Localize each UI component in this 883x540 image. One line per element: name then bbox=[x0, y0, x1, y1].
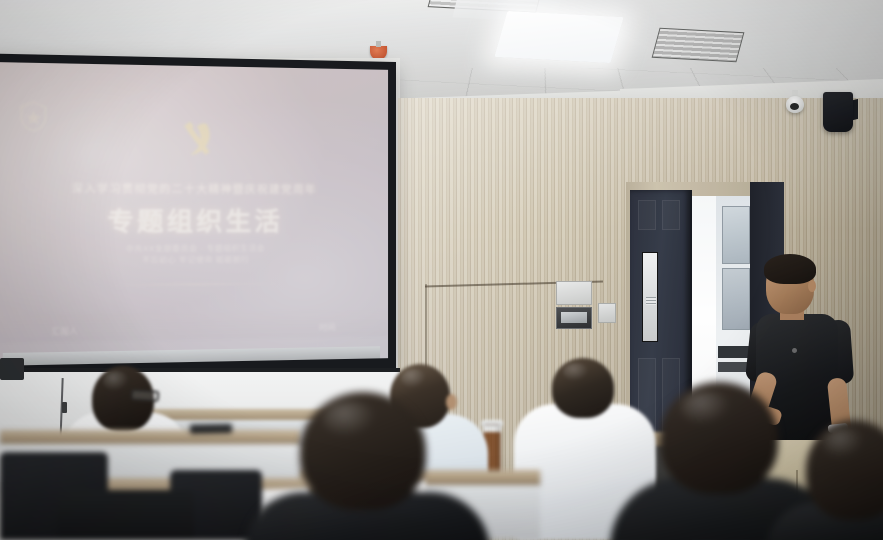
dome-security-camera-icon bbox=[786, 96, 804, 113]
door-vision-panel bbox=[642, 252, 658, 342]
ceiling-air-vent-2 bbox=[652, 28, 745, 63]
attendee-foreground-right-head bbox=[660, 382, 778, 494]
hair-highlight bbox=[563, 363, 589, 381]
attendee-center-right-head bbox=[552, 358, 614, 418]
attendee-center-ear bbox=[446, 394, 457, 410]
door-panel-top-left bbox=[638, 200, 656, 230]
presenter-hair bbox=[764, 254, 816, 284]
projection-screen-surface: 深入学习贯彻党的二十大精神暨庆祝建党周年 专题组织生活 中共XX支部委员会 · … bbox=[0, 62, 388, 366]
wall-notice-plate bbox=[556, 281, 592, 305]
hair-highlight bbox=[103, 371, 129, 391]
cable-clip-1 bbox=[62, 402, 67, 413]
attendee-foreground-center-head bbox=[300, 392, 426, 510]
corridor-window-lower bbox=[722, 268, 750, 330]
eyeglasses-icon bbox=[131, 389, 160, 402]
door-panel-top-right bbox=[662, 200, 680, 230]
led-panel-light bbox=[494, 11, 623, 63]
presenter-shirt-logo bbox=[792, 348, 797, 353]
wall-speaker-icon bbox=[823, 92, 853, 132]
presenter-ear bbox=[808, 280, 816, 292]
desk-mid-row bbox=[0, 430, 300, 444]
hair-highlight bbox=[681, 391, 731, 425]
mobile-phone bbox=[190, 424, 232, 434]
wall-switch-plate[interactable] bbox=[598, 303, 616, 323]
projection-screen: 深入学习贯彻党的二十大精神暨庆祝建党周年 专题组织生活 中共XX支部委员会 · … bbox=[0, 53, 396, 376]
hair-highlight bbox=[823, 428, 863, 458]
hair-highlight bbox=[323, 401, 376, 436]
chair-back-left bbox=[58, 490, 194, 540]
meeting-room-photo: 深入学习贯彻党的二十大精神暨庆祝建党周年 专题组织生活 中共XX支部委员会 · … bbox=[0, 0, 883, 540]
hair-highlight bbox=[401, 369, 426, 388]
screen-glare bbox=[0, 62, 388, 366]
projector-control-box[interactable] bbox=[0, 358, 24, 380]
corridor-window-upper bbox=[722, 206, 750, 264]
door-blind bbox=[646, 297, 656, 305]
wall-control-panel[interactable] bbox=[556, 307, 592, 329]
wall-control-panel-screen bbox=[561, 312, 587, 323]
